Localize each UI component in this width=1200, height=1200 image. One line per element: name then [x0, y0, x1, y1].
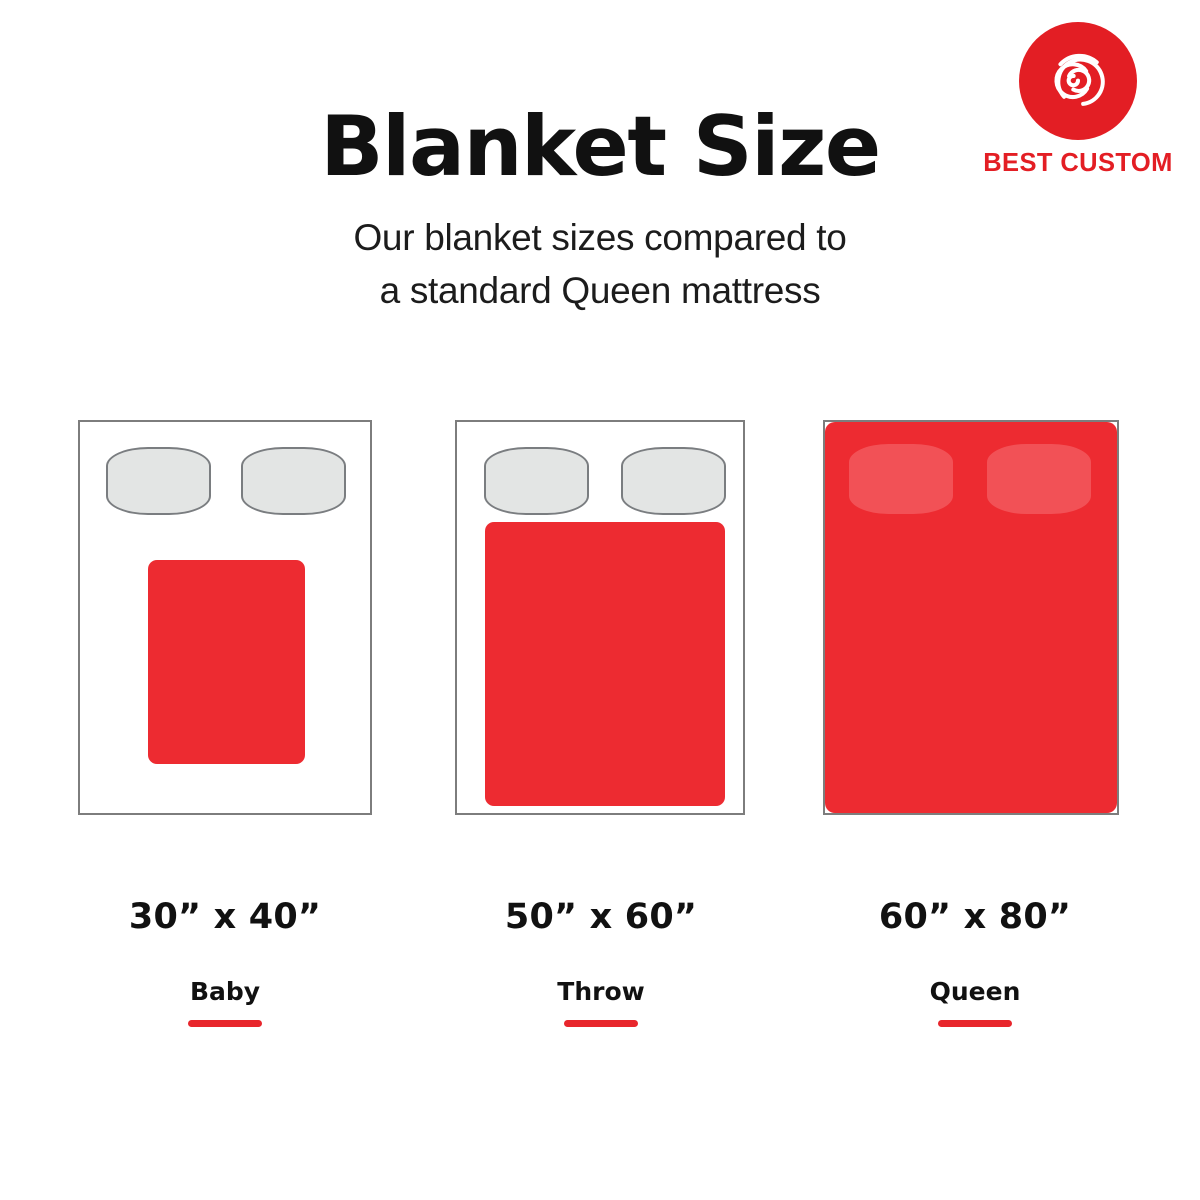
- caption-baby: 30” x 40” Baby: [80, 900, 370, 1027]
- caption-queen: 60” x 80” Queen: [830, 900, 1120, 1027]
- caption-dimensions-throw: 50” x 60”: [456, 900, 746, 935]
- page-title: Blanket Size: [0, 104, 1200, 190]
- caption-throw: 50” x 60” Throw: [456, 900, 746, 1027]
- caption-label-throw: Throw: [456, 979, 746, 1004]
- caption-underline-throw: [564, 1020, 638, 1027]
- pillow-right-throw: [621, 447, 726, 515]
- bed-diagram-throw: [455, 420, 745, 815]
- mattress-outline-queen: [823, 420, 1119, 815]
- blanket-throw: [485, 522, 725, 806]
- mattress-outline-baby: [78, 420, 372, 815]
- header-block: Blanket Size Our blanket sizes compared …: [0, 104, 1200, 317]
- caption-row: 30” x 40” Baby 50” x 60” Throw 60” x 80”…: [0, 900, 1200, 1060]
- pillow-right-queen: [987, 444, 1091, 514]
- mattress-outline-throw: [455, 420, 745, 815]
- caption-underline-queen: [938, 1020, 1012, 1027]
- caption-dimensions-baby: 30” x 40”: [80, 900, 370, 935]
- caption-label-queen: Queen: [830, 979, 1120, 1004]
- caption-dimensions-queen: 60” x 80”: [830, 900, 1120, 935]
- page-subtitle: Our blanket sizes compared to a standard…: [0, 212, 1200, 317]
- bed-diagram-baby: [78, 420, 372, 815]
- page-subtitle-line-2: a standard Queen mattress: [0, 265, 1200, 318]
- page-subtitle-line-1: Our blanket sizes compared to: [0, 212, 1200, 265]
- caption-label-baby: Baby: [80, 979, 370, 1004]
- pillow-left-throw: [484, 447, 589, 515]
- pillow-right-baby: [241, 447, 346, 515]
- bed-comparison-diagram: [0, 420, 1200, 820]
- bed-diagram-queen: [823, 420, 1119, 815]
- blanket-queen: [825, 422, 1117, 813]
- pillow-left-baby: [106, 447, 211, 515]
- blanket-baby: [148, 560, 305, 764]
- pillow-left-queen: [849, 444, 953, 514]
- caption-underline-baby: [188, 1020, 262, 1027]
